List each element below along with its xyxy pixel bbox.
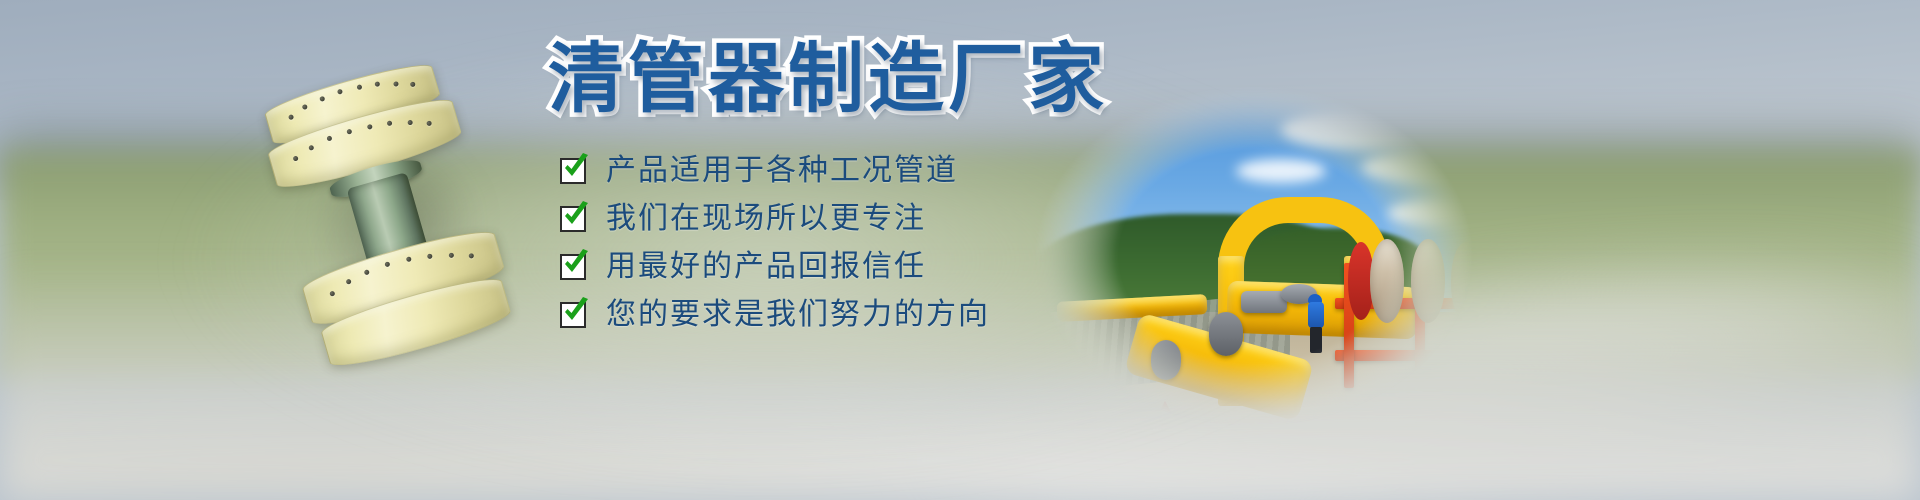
photo-vignette [1030, 82, 1478, 430]
list-item-label: 产品适用于各种工况管道 [606, 156, 958, 186]
check-icon [560, 158, 586, 184]
check-icon [560, 254, 586, 280]
list-item: 产品适用于各种工况管道 [560, 156, 990, 186]
page-title: 清管器制造厂家 [548, 42, 1108, 118]
check-icon [560, 302, 586, 328]
check-icon [560, 206, 586, 232]
gas-pipeline-site-photo [1030, 82, 1478, 430]
list-item-label: 我们在现场所以更专注 [606, 204, 926, 234]
list-item-label: 用最好的产品回报信任 [606, 252, 926, 282]
list-item-label: 您的要求是我们努力的方向 [606, 300, 990, 330]
list-item: 用最好的产品回报信任 [560, 252, 990, 282]
list-item: 您的要求是我们努力的方向 [560, 300, 990, 330]
feature-list: 产品适用于各种工况管道 我们在现场所以更专注 用最好的产品回报信任 [560, 156, 990, 330]
promo-banner: 清管器制造厂家 产品适用于各种工况管道 我们在现场所以更专注 [0, 0, 1920, 500]
list-item: 我们在现场所以更专注 [560, 204, 990, 234]
